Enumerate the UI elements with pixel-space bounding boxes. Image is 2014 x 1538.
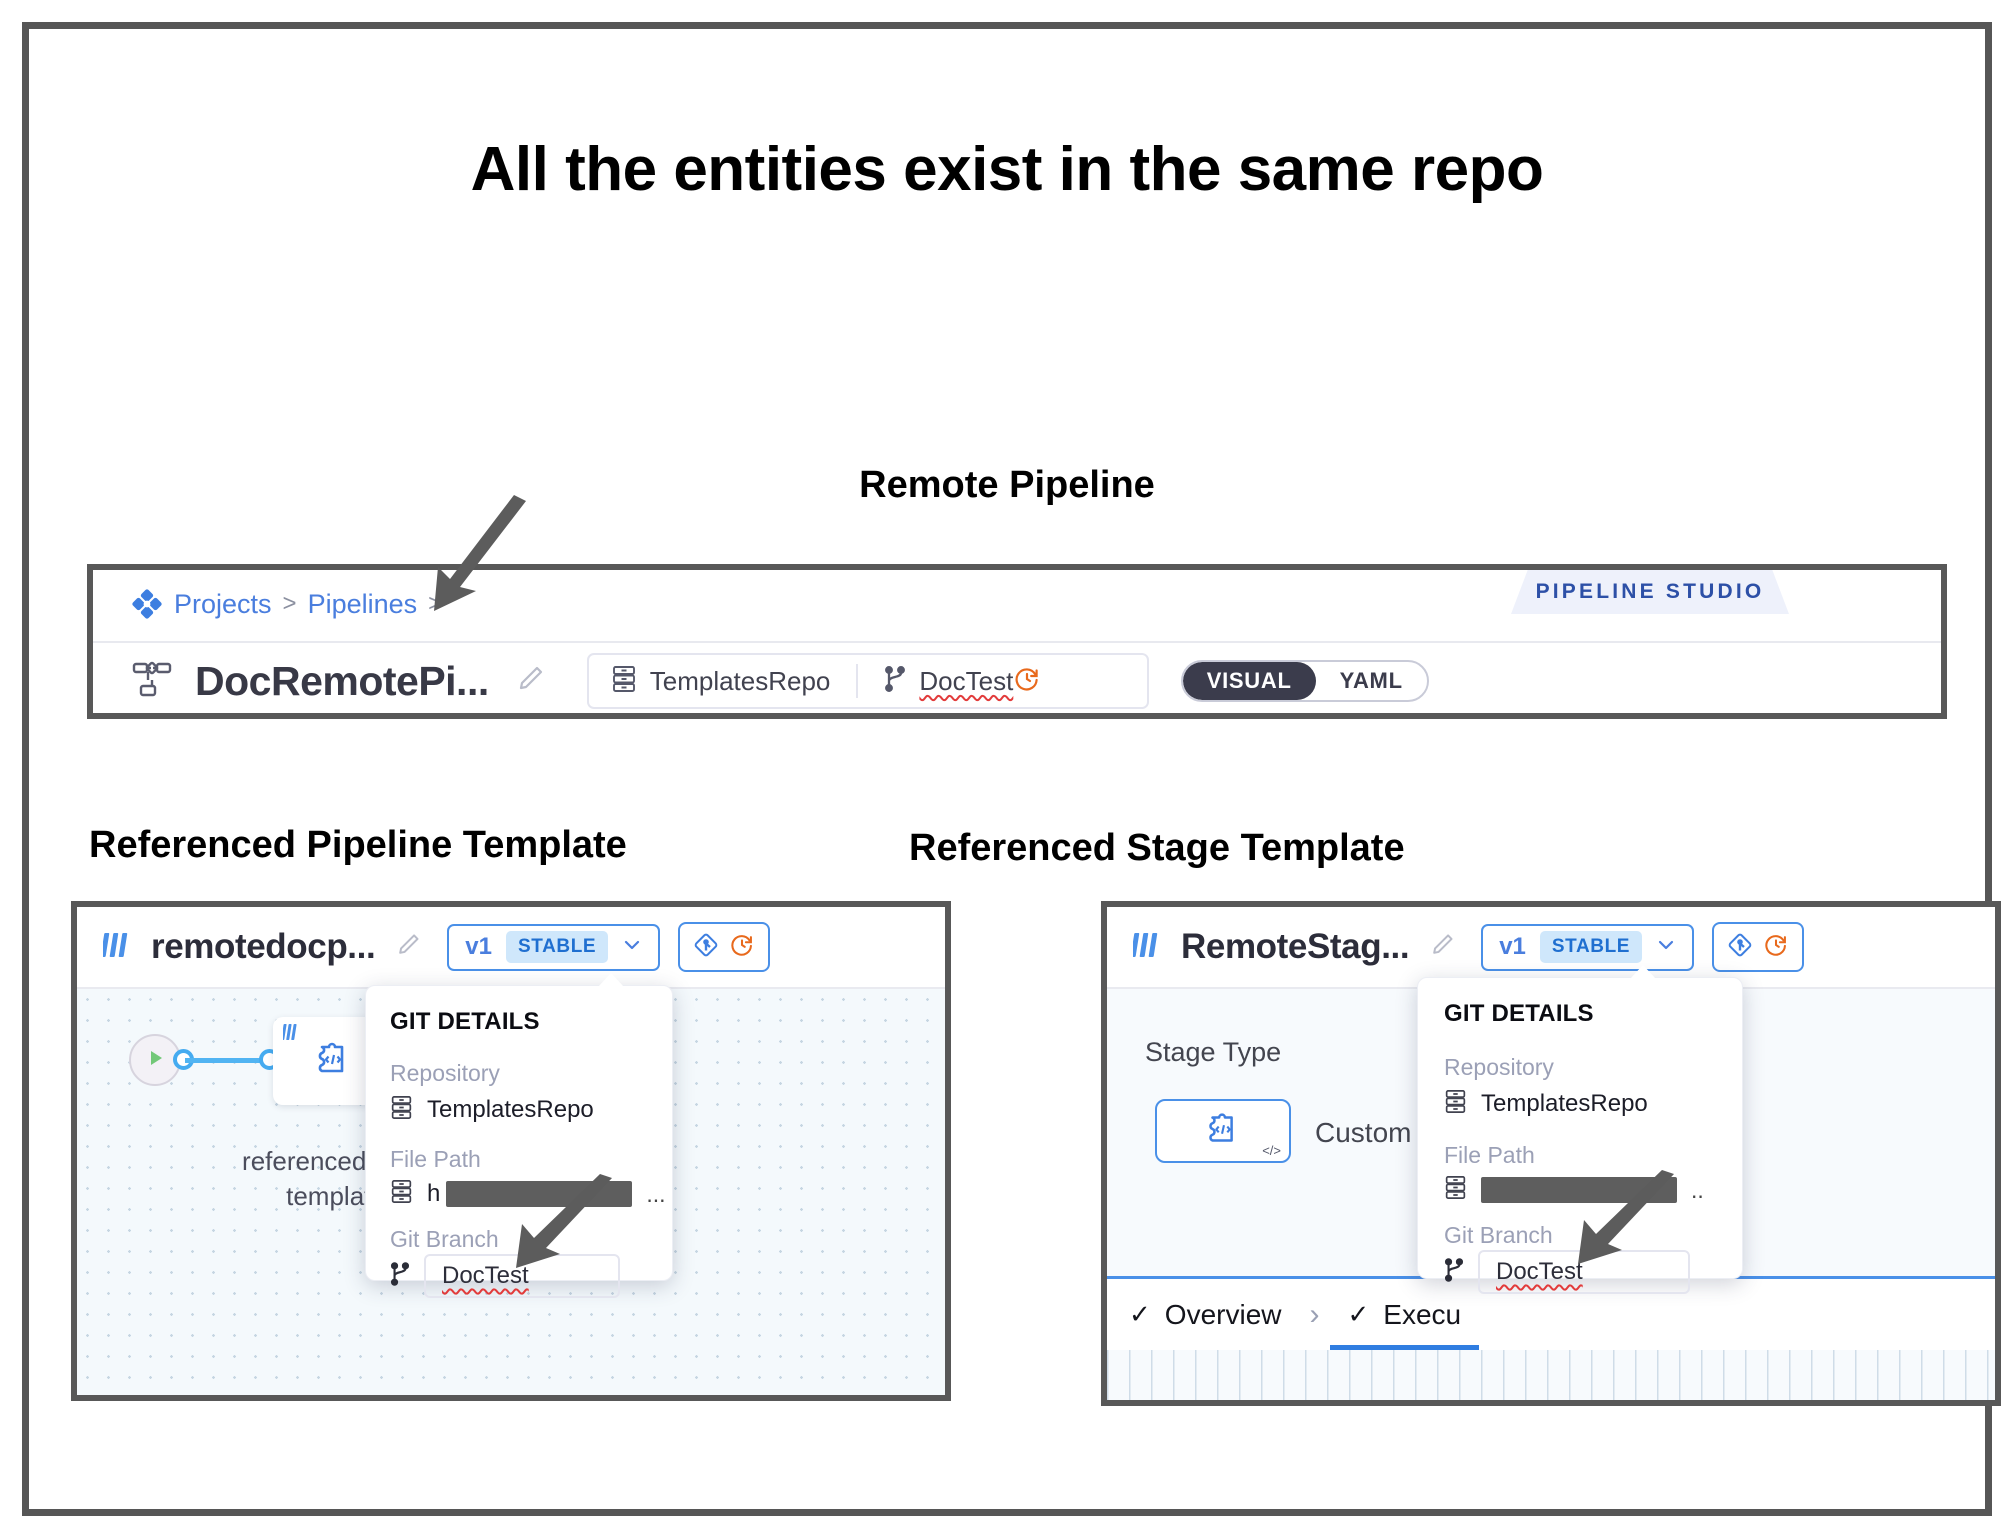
- custom-stage-icon: [310, 1036, 356, 1087]
- chevron-down-icon: [1656, 935, 1676, 960]
- pipeline-node-icon: [93, 658, 173, 705]
- git-details-title: GIT DETAILS: [1444, 1000, 1594, 1028]
- git-branch-row: DocTest: [1444, 1250, 1690, 1294]
- toggle-yaml[interactable]: YAML: [1316, 662, 1427, 700]
- git-branch-row: DocTest: [390, 1254, 620, 1298]
- file-path-ellipsis: ..: [1691, 1177, 1704, 1204]
- stage-template-name: RemoteStag...: [1181, 927, 1409, 967]
- pipeline-name: DocRemotePi...: [195, 658, 489, 705]
- stage-type-card[interactable]: </>: [1155, 1099, 1291, 1163]
- section-heading-remote-pipeline: Remote Pipeline: [29, 464, 1985, 507]
- section-heading-referenced-stage-template: Referenced Stage Template: [909, 827, 1405, 870]
- file-path-label: File Path: [1444, 1142, 1535, 1169]
- repository-icon: [611, 664, 637, 699]
- clock-reload-icon[interactable]: [729, 932, 755, 963]
- chip-repository[interactable]: TemplatesRepo: [589, 664, 831, 699]
- git-branch-icon: [390, 1261, 410, 1292]
- repository-icon: [390, 1094, 413, 1126]
- repository-value-row: TemplatesRepo: [390, 1094, 594, 1126]
- git-details-button[interactable]: [678, 922, 770, 972]
- remote-pipeline-panel: Projects > Pipelines > PIPELINE STUDIO D…: [87, 564, 1947, 719]
- stage-git-details-button[interactable]: [1712, 922, 1804, 972]
- git-branch-input[interactable]: DocTest: [424, 1254, 620, 1298]
- breadcrumb-item-pipelines[interactable]: Pipelines: [308, 589, 418, 620]
- git-diamond-icon: [693, 932, 719, 963]
- template-header: remotedocp... v1 STABLE: [77, 907, 945, 989]
- pencil-icon[interactable]: [489, 664, 545, 699]
- canvas-ruler: [1107, 1350, 1995, 1400]
- chip-branch[interactable]: DocTest: [884, 665, 1013, 698]
- git-repo-branch-chip[interactable]: TemplatesRepo DocTest: [587, 653, 1149, 709]
- referenced-stage-template-panel: RemoteStag... v1 STABLE: [1101, 901, 2001, 1406]
- breadcrumb-separator-trailing: >: [428, 590, 442, 618]
- chip-repository-name: TemplatesRepo: [650, 666, 831, 697]
- repository-label: Repository: [1444, 1054, 1554, 1081]
- file-path-redaction: [446, 1181, 632, 1207]
- git-branch-value: DocTest: [1496, 1258, 1583, 1286]
- git-diamond-icon: [1727, 932, 1753, 963]
- git-details-popover: GIT DETAILS Repository TemplatesRepo Fil…: [365, 985, 673, 1281]
- git-branch-label: Git Branch: [1444, 1222, 1553, 1249]
- version-label: v1: [1499, 933, 1526, 961]
- git-branch-icon: [884, 665, 906, 698]
- file-path-redaction: [1481, 1177, 1677, 1203]
- tab-overview[interactable]: ✓ Overview: [1107, 1279, 1304, 1350]
- toggle-visual[interactable]: VISUAL: [1183, 662, 1316, 700]
- template-name: remotedocp...: [151, 927, 375, 967]
- git-branch-label: Git Branch: [390, 1226, 499, 1253]
- code-glyph: </>: [1262, 1143, 1281, 1158]
- repository-icon: [390, 1178, 413, 1210]
- repository-value-row: TemplatesRepo: [1444, 1088, 1648, 1120]
- file-path-label: File Path: [390, 1146, 481, 1173]
- file-path-ellipsis: ...: [646, 1181, 665, 1208]
- breadcrumb: Projects > Pipelines >: [131, 588, 442, 620]
- pencil-icon[interactable]: [1409, 932, 1455, 963]
- git-branch-value: DocTest: [442, 1262, 529, 1290]
- repository-value: TemplatesRepo: [427, 1096, 594, 1124]
- start-play-icon: [144, 1047, 166, 1074]
- template-bars-icon: [77, 929, 133, 966]
- section-heading-referenced-pipeline-template: Referenced Pipeline Template: [89, 824, 627, 867]
- breadcrumb-separator: >: [283, 590, 297, 618]
- file-path-value: h: [427, 1180, 440, 1208]
- version-selector[interactable]: v1 STABLE: [447, 924, 660, 971]
- chip-divider: [856, 664, 858, 698]
- stage-version-selector[interactable]: v1 STABLE: [1481, 924, 1694, 971]
- figure-frame: All the entities exist in the same repo …: [22, 22, 1992, 1516]
- repository-icon: [1444, 1088, 1467, 1120]
- check-icon: ✓: [1129, 1299, 1151, 1330]
- page-title: All the entities exist in the same repo: [29, 134, 1985, 205]
- referenced-pipeline-template-panel: remotedocp... v1 STABLE: [71, 901, 951, 1401]
- stage-type-label: Stage Type: [1145, 1037, 1281, 1068]
- version-label: v1: [465, 933, 492, 961]
- pencil-icon[interactable]: [375, 932, 421, 963]
- repository-icon: [1444, 1174, 1467, 1206]
- stage-git-details-popover: GIT DETAILS Repository TemplatesRepo Fil…: [1417, 977, 1743, 1279]
- view-mode-toggle[interactable]: VISUAL YAML: [1181, 660, 1429, 702]
- repository-value: TemplatesRepo: [1481, 1090, 1648, 1118]
- file-path-value-row: ..: [1444, 1174, 1704, 1206]
- pipeline-studio-badge: PIPELINE STUDIO: [1511, 570, 1789, 614]
- version-status-badge: STABLE: [1540, 931, 1642, 963]
- tab-execution-label: Execu: [1383, 1299, 1461, 1331]
- connector-wire: [185, 1058, 263, 1063]
- breadcrumb-item-projects[interactable]: Projects: [174, 589, 272, 620]
- stage-type-value: Custom: [1315, 1117, 1411, 1149]
- chevron-down-icon: [622, 935, 642, 960]
- custom-stage-icon: [1201, 1107, 1245, 1156]
- projects-diamond-icon: [131, 588, 163, 620]
- git-details-title: GIT DETAILS: [390, 1008, 540, 1036]
- git-branch-icon: [1444, 1257, 1464, 1288]
- breadcrumb-row: Projects > Pipelines > PIPELINE STUDIO: [93, 570, 1941, 643]
- file-path-value-row: h ...: [390, 1178, 666, 1210]
- repository-label: Repository: [390, 1060, 500, 1087]
- clock-reload-icon[interactable]: [1013, 665, 1061, 698]
- clock-reload-icon[interactable]: [1763, 932, 1789, 963]
- pipeline-title-row: DocRemotePi... Templat: [93, 643, 1941, 719]
- template-bars-icon: [1107, 929, 1163, 966]
- tab-overview-label: Overview: [1165, 1299, 1282, 1331]
- check-icon: ✓: [1348, 1299, 1370, 1330]
- tab-separator-icon: ›: [1304, 1298, 1326, 1332]
- git-branch-input[interactable]: DocTest: [1478, 1250, 1690, 1294]
- chip-branch-name: DocTest: [919, 666, 1013, 697]
- version-status-badge: STABLE: [506, 931, 608, 963]
